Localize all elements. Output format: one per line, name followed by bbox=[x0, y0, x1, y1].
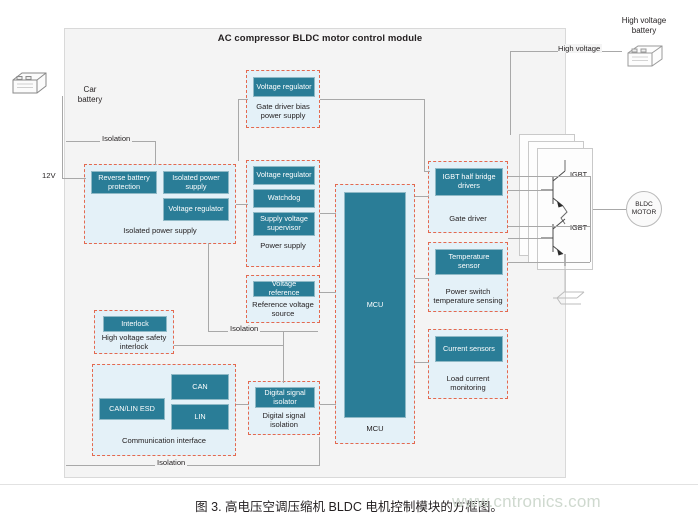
isolation-label-top: Isolation bbox=[100, 134, 132, 143]
group-load-current-monitoring[interactable]: Current sensors Load current monitoring bbox=[428, 329, 508, 399]
svg-text:IGBT: IGBT bbox=[570, 223, 588, 232]
wire-12v-in bbox=[66, 178, 86, 179]
wire-interlock-down bbox=[283, 345, 284, 383]
high-voltage-battery-label: High voltage battery bbox=[602, 16, 686, 35]
high-voltage-label: High voltage bbox=[556, 44, 602, 53]
wire-sense-bus-vertical bbox=[590, 176, 591, 262]
group-label-mcu: MCU bbox=[336, 424, 414, 433]
wire-mcu-to-gate-driver bbox=[415, 196, 429, 197]
wire-gate-driver-phase2 bbox=[508, 176, 590, 177]
group-label-reference-voltage-source: Reference voltage source bbox=[247, 300, 319, 318]
wire-power-supply-to-mcu bbox=[320, 213, 336, 214]
isolation-label-middle: Isolation bbox=[228, 324, 260, 333]
block-supply-voltage-supervisor[interactable]: Supply voltage supervisor bbox=[253, 212, 315, 236]
group-gate-driver-bias-power-supply[interactable]: Voltage regulator Gate driver bias power… bbox=[246, 70, 320, 128]
group-label-high-voltage-safety-interlock: High voltage safety interlock bbox=[95, 333, 173, 351]
isolation-line-middle-vertical-left bbox=[208, 243, 209, 332]
group-communication-interface[interactable]: CAN/LIN ESD CAN LIN Communication interf… bbox=[92, 364, 236, 456]
group-reference-voltage-source[interactable]: Voltage reference Reference voltage sour… bbox=[246, 275, 320, 323]
wire-rail-into-bias bbox=[238, 99, 248, 100]
high-voltage-wire-into-module bbox=[510, 51, 558, 52]
group-label-power-supply: Power supply bbox=[247, 241, 319, 250]
wire-rail-vertical bbox=[238, 99, 239, 161]
ground-icon bbox=[548, 266, 588, 314]
caption-divider bbox=[0, 484, 698, 485]
group-label-digital-signal-isolation: Digital signal isolation bbox=[249, 411, 319, 429]
wire-bias-into-gate-driver bbox=[424, 171, 430, 172]
car-battery-wire-vertical bbox=[62, 96, 63, 178]
block-watchdog[interactable]: Watchdog bbox=[253, 189, 315, 208]
wire-isolator-to-mcu bbox=[320, 404, 336, 405]
isolation-line-top-vertical bbox=[155, 141, 156, 165]
block-reverse-battery-protection[interactable]: Reverse battery protection bbox=[91, 171, 157, 194]
group-label-load-current-monitoring: Load current monitoring bbox=[429, 374, 507, 392]
wire-mcu-to-current bbox=[415, 362, 429, 363]
car-battery-icon bbox=[8, 66, 52, 100]
group-digital-signal-isolation[interactable]: Digital signal isolator Digital signal i… bbox=[248, 381, 320, 435]
group-gate-driver[interactable]: IGBT half bridge drivers Gate driver bbox=[428, 161, 508, 233]
wire-bias-down-to-gate-driver bbox=[424, 99, 425, 171]
isolation-line-bottom-horizontal bbox=[66, 465, 320, 466]
figure-root: AC compressor BLDC motor control module … bbox=[0, 0, 698, 526]
block-can-lin-esd[interactable]: CAN/LIN ESD bbox=[99, 398, 165, 420]
wire-reference-to-mcu bbox=[320, 292, 336, 293]
wire-temperature-sense bbox=[508, 262, 590, 263]
wire-bias-to-right bbox=[320, 99, 424, 100]
group-label-gate-driver-bias: Gate driver bias power supply bbox=[247, 102, 319, 120]
block-interlock[interactable]: Interlock bbox=[103, 316, 167, 332]
group-label-communication-interface: Communication interface bbox=[93, 436, 235, 445]
block-igbt-half-bridge-drivers[interactable]: IGBT half bridge drivers bbox=[435, 168, 503, 196]
igbt-half-bridge-symbol: IGBT IGBT bbox=[537, 148, 593, 270]
block-voltage-regulator-bias[interactable]: Voltage regulator bbox=[253, 77, 315, 97]
group-label-power-switch-temperature-sensing: Power switch temperature sensing bbox=[429, 287, 507, 305]
group-isolated-power-supply[interactable]: Reverse battery protection Isolated powe… bbox=[84, 164, 236, 244]
car-battery-label: Car battery bbox=[68, 85, 112, 104]
isolation-label-bottom: Isolation bbox=[155, 458, 187, 467]
isolation-line-middle-horizontal bbox=[208, 331, 318, 332]
watermark: www.cntronics.com bbox=[452, 492, 601, 512]
block-voltage-regulator-power[interactable]: Voltage regulator bbox=[253, 166, 315, 185]
high-voltage-battery-icon bbox=[622, 38, 668, 72]
block-can[interactable]: CAN bbox=[171, 374, 229, 400]
wire-gate-driver-to-igbt-upper bbox=[508, 190, 541, 191]
bldc-motor-node: BLDC MOTOR bbox=[626, 191, 662, 227]
wire-gate-driver-phase3 bbox=[508, 226, 590, 227]
block-temperature-sensor[interactable]: Temperature sensor bbox=[435, 249, 503, 275]
voltage-12v-label: 12V bbox=[40, 171, 58, 180]
group-label-gate-driver: Gate driver bbox=[429, 214, 507, 223]
wire-gate-driver-to-igbt-lower bbox=[508, 238, 541, 239]
isolation-line-bottom-vertical bbox=[319, 437, 320, 466]
wire-interlock-right bbox=[174, 345, 284, 346]
svg-text:IGBT: IGBT bbox=[570, 170, 588, 179]
module-title: AC compressor BLDC motor control module bbox=[170, 33, 470, 44]
block-current-sensors[interactable]: Current sensors bbox=[435, 336, 503, 362]
block-mcu[interactable]: MCU bbox=[344, 192, 406, 418]
wire-mcu-to-temperature bbox=[415, 278, 429, 279]
wire-comm-to-isolator bbox=[236, 404, 249, 405]
high-voltage-wire-down bbox=[510, 51, 511, 135]
group-mcu[interactable]: MCU MCU bbox=[335, 184, 415, 444]
block-voltage-regulator-isolated[interactable]: Voltage regulator bbox=[163, 198, 229, 221]
group-power-switch-temperature-sensing[interactable]: Temperature sensor Power switch temperat… bbox=[428, 242, 508, 312]
group-power-supply[interactable]: Voltage regulator Watchdog Supply voltag… bbox=[246, 160, 320, 267]
motor-phase-wire bbox=[593, 209, 626, 210]
block-lin[interactable]: LIN bbox=[171, 404, 229, 430]
block-digital-signal-isolator[interactable]: Digital signal isolator bbox=[255, 387, 315, 408]
group-high-voltage-safety-interlock[interactable]: Interlock High voltage safety interlock bbox=[94, 310, 174, 354]
group-label-isolated-power-supply: Isolated power supply bbox=[85, 226, 235, 235]
block-isolated-power-supply[interactable]: Isolated power supply bbox=[163, 171, 229, 194]
wire-isolated-to-power-supply bbox=[236, 204, 248, 205]
block-voltage-reference[interactable]: Voltage reference bbox=[253, 281, 315, 297]
